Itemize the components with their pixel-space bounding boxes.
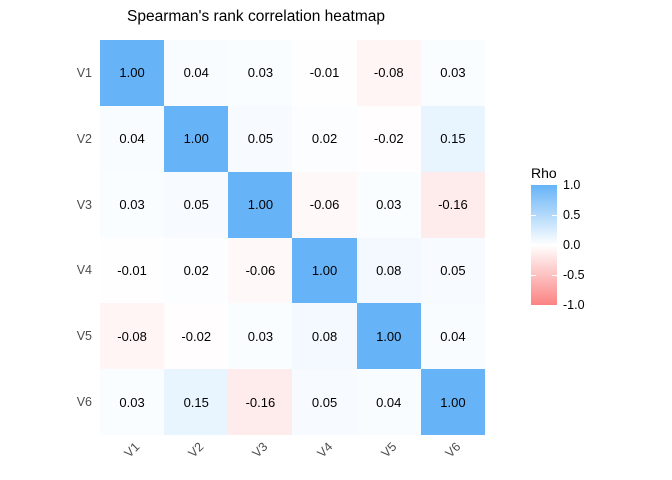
legend-tick-mark [552, 245, 557, 246]
legend-tick-mark [531, 275, 536, 276]
legend-tick-label: 0.5 [563, 209, 580, 222]
heatmap-cell: 1.00 [421, 369, 485, 435]
heatmap-cell: 1.00 [164, 106, 228, 172]
plot-panel: 1.000.040.03-0.01-0.080.030.041.000.050.… [100, 40, 485, 435]
heatmap-cell: -0.06 [292, 172, 356, 238]
heatmap-cell-value: -0.06 [310, 198, 340, 211]
heatmap-cell-value: -0.01 [310, 66, 340, 79]
legend-tick-label: 0.0 [563, 239, 580, 252]
x-tick-label-v2: V2 [164, 437, 228, 477]
heatmap-cell: -0.16 [421, 172, 485, 238]
x-tick-label-v6-text: V6 [443, 440, 464, 461]
heatmap-cell: 1.00 [100, 40, 164, 106]
heatmap-cell: 0.05 [421, 238, 485, 304]
x-tick-label-v3: V3 [228, 437, 292, 477]
heatmap-cell: 1.00 [292, 238, 356, 304]
heatmap-cell: 0.03 [357, 172, 421, 238]
heatmap-cell-value: -0.06 [246, 264, 276, 277]
heatmap-cell: 0.03 [228, 303, 292, 369]
heatmap-cell-value: -0.01 [117, 264, 147, 277]
legend-tick-label: 1.0 [563, 179, 580, 192]
legend-tick-labels: 1.00.50.0-0.5-1.0 [563, 185, 597, 305]
x-tick-label-v5-text: V5 [378, 440, 399, 461]
x-tick-label-v4-text: V4 [314, 440, 335, 461]
heatmap-cell-value: 0.02 [184, 264, 209, 277]
heatmap-cell: -0.16 [228, 369, 292, 435]
x-tick-label-v1: V1 [100, 437, 164, 477]
heatmap-cell: -0.02 [164, 303, 228, 369]
heatmap-cell-value: 0.05 [248, 132, 273, 145]
heatmap-cell-value: 0.03 [119, 198, 144, 211]
legend-colorbar [531, 185, 557, 305]
heatmap-cell: -0.08 [357, 40, 421, 106]
legend-tick-mark [552, 275, 557, 276]
heatmap-cell-value: 0.04 [440, 330, 465, 343]
heatmap-cell-value: 0.15 [440, 132, 465, 145]
legend-tick-mark [531, 245, 536, 246]
heatmap-cell: 0.02 [164, 238, 228, 304]
heatmap-cell-value: 0.05 [440, 264, 465, 277]
heatmap-cell: 0.03 [100, 172, 164, 238]
heatmap-cell-value: 0.08 [376, 264, 401, 277]
heatmap-cell: 0.03 [228, 40, 292, 106]
heatmap-cell: 0.04 [100, 106, 164, 172]
heatmap-cell-value: -0.16 [438, 198, 468, 211]
heatmap-cell-value: 1.00 [184, 132, 209, 145]
heatmap-cell: 0.03 [100, 369, 164, 435]
heatmap-cell: 1.00 [228, 172, 292, 238]
y-tick-label-v2: V2 [58, 106, 92, 172]
heatmap-cell-value: -0.08 [374, 66, 404, 79]
heatmap-cell: 0.04 [164, 40, 228, 106]
chart-title: Spearman's rank correlation heatmap [0, 8, 512, 26]
x-tick-label-v4: V4 [292, 437, 356, 477]
heatmap-cell-value: 0.04 [184, 66, 209, 79]
legend-body: 1.00.50.0-0.5-1.0 [531, 185, 597, 305]
heatmap-cell-value: 1.00 [376, 330, 401, 343]
heatmap-cell: 0.03 [421, 40, 485, 106]
heatmap-cell-value: 1.00 [248, 198, 273, 211]
x-axis-labels: V1 V2 V3 V4 V5 V6 [100, 437, 485, 477]
heatmap-cell-value: 0.05 [184, 198, 209, 211]
heatmap-cell: -0.01 [100, 238, 164, 304]
heatmap-cell: 0.05 [228, 106, 292, 172]
heatmap-chart: Spearman's rank correlation heatmap V1 V… [0, 0, 672, 480]
x-tick-label-v5: V5 [357, 437, 421, 477]
heatmap-cell-value: -0.02 [374, 132, 404, 145]
heatmap-cell: -0.06 [228, 238, 292, 304]
heatmap-cell: 0.15 [164, 369, 228, 435]
x-tick-label-v3-text: V3 [250, 440, 271, 461]
legend-tick-mark [531, 215, 536, 216]
heatmap-cell-value: -0.08 [117, 330, 147, 343]
heatmap-cell: 0.05 [292, 369, 356, 435]
heatmap-cell-value: 0.05 [312, 396, 337, 409]
heatmap-cell: 0.08 [292, 303, 356, 369]
heatmap-cell-value: 0.03 [119, 396, 144, 409]
heatmap-cell: -0.08 [100, 303, 164, 369]
legend-tick-label: -1.0 [563, 299, 585, 312]
heatmap-cell-value: -0.02 [181, 330, 211, 343]
x-tick-label-v2-text: V2 [186, 440, 207, 461]
heatmap-cell-value: 0.08 [312, 330, 337, 343]
heatmap-cell: 0.04 [357, 369, 421, 435]
heatmap-cell-value: 0.15 [184, 396, 209, 409]
heatmap-cell-value: 1.00 [119, 66, 144, 79]
y-tick-label-v4: V4 [58, 238, 92, 304]
heatmap-cell-value: 0.03 [440, 66, 465, 79]
heatmap-cell-value: 0.03 [248, 330, 273, 343]
heatmap-cell: 0.05 [164, 172, 228, 238]
heatmap-cell-value: 0.02 [312, 132, 337, 145]
heatmap-cell-value: -0.16 [246, 396, 276, 409]
heatmap-cell-value: 0.03 [376, 198, 401, 211]
heatmap-cell: 0.02 [292, 106, 356, 172]
y-tick-label-v5: V5 [58, 303, 92, 369]
heatmap-cell-value: 0.04 [376, 396, 401, 409]
x-tick-label-v1-text: V1 [122, 440, 143, 461]
heatmap-cell: -0.01 [292, 40, 356, 106]
legend: Rho 1.00.50.0-0.5-1.0 [531, 166, 597, 305]
heatmap-cell: 0.15 [421, 106, 485, 172]
heatmap-cell: 1.00 [357, 303, 421, 369]
heatmap-cell-value: 0.03 [248, 66, 273, 79]
heatmap-cell: 0.08 [357, 238, 421, 304]
heatmap-cell-value: 0.04 [119, 132, 144, 145]
legend-tick-mark [552, 215, 557, 216]
heatmap-cell-value: 1.00 [312, 264, 337, 277]
heatmap-cell: 0.04 [421, 303, 485, 369]
y-axis-labels: V1 V2 V3 V4 V5 V6 [58, 40, 92, 435]
heatmap-cell-value: 1.00 [440, 396, 465, 409]
legend-tick-label: -0.5 [563, 269, 585, 282]
y-tick-label-v3: V3 [58, 172, 92, 238]
y-tick-label-v6: V6 [58, 369, 92, 435]
y-tick-label-v1: V1 [58, 40, 92, 106]
heatmap-grid: 1.000.040.03-0.01-0.080.030.041.000.050.… [100, 40, 485, 435]
x-tick-label-v6: V6 [421, 437, 485, 477]
heatmap-cell: -0.02 [357, 106, 421, 172]
